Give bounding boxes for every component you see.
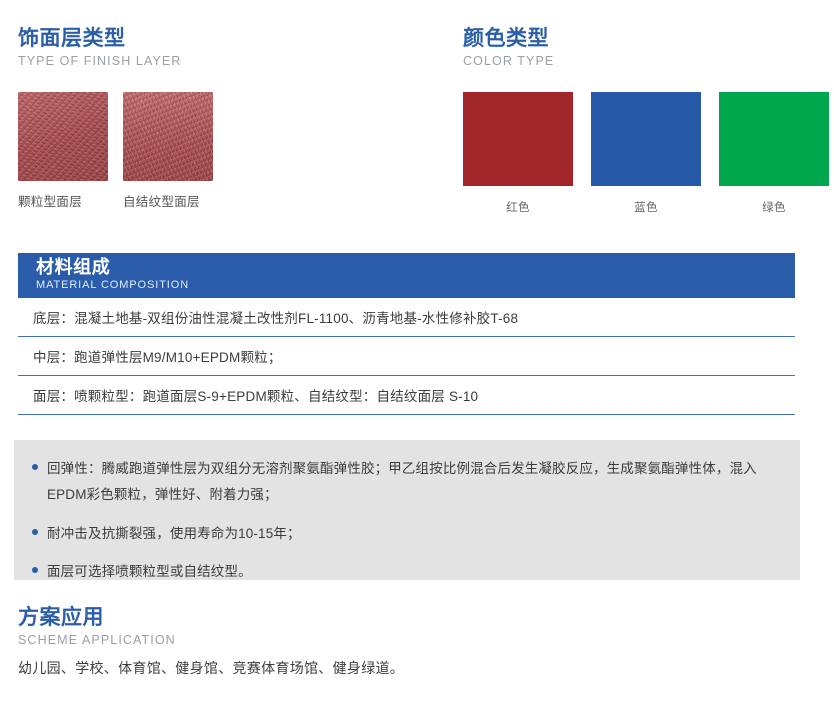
material-composition-row: 中层：跑道弹性层M9/M10+EPDM颗粒； xyxy=(18,337,795,376)
color-swatch-item[interactable]: 蓝色 xyxy=(591,92,701,215)
green-color-swatch xyxy=(719,92,829,186)
finish-layer-item[interactable]: 颗粒型面层 xyxy=(18,92,108,210)
color-type-section: 颜色类型 COLOR TYPE 红色 蓝色 绿色 xyxy=(463,28,823,215)
finish-layer-caption: 自结纹型面层 xyxy=(123,191,213,210)
material-composition-subtitle: MATERIAL COMPOSITION xyxy=(36,280,795,291)
red-color-swatch xyxy=(463,92,573,186)
feature-text: 回弹性：腾威跑道弹性层为双组分无溶剂聚氨酯弹性胶；甲乙组按比例混合后发生凝胶反应… xyxy=(47,456,778,509)
finish-layer-thumbnail-row: 颗粒型面层 自结纹型面层 xyxy=(18,92,418,210)
material-composition-band: 材料组成 MATERIAL COMPOSITION xyxy=(18,253,795,298)
feature-list-item: 回弹性：腾威跑道弹性层为双组分无溶剂聚氨酯弹性胶；甲乙组按比例混合后发生凝胶反应… xyxy=(32,456,778,509)
feature-text: 面层可选择喷颗粒型或自结纹型。 xyxy=(47,559,252,585)
color-swatch-item[interactable]: 红色 xyxy=(463,92,573,215)
color-swatch-caption: 蓝色 xyxy=(591,199,701,215)
scheme-application-subtitle: SCHEME APPLICATION xyxy=(18,634,778,647)
material-composition-row: 底层：混凝土地基-双组份油性混凝土改性剂FL-1100、沥青地基-水性修补胶T-… xyxy=(18,298,795,337)
finish-layer-subtitle: TYPE OF FINISH LAYER xyxy=(18,55,418,68)
material-composition-title: 材料组成 xyxy=(36,258,795,278)
bullet-icon xyxy=(32,567,38,573)
color-swatch-caption: 红色 xyxy=(463,199,573,215)
finish-layer-title: 饰面层类型 xyxy=(18,28,418,50)
color-swatch-row: 红色 蓝色 绿色 xyxy=(463,92,823,215)
feature-list-item: 耐冲击及抗撕裂强，使用寿命为10-15年； xyxy=(32,521,778,547)
feature-list-box: 回弹性：腾威跑道弹性层为双组分无溶剂聚氨酯弹性胶；甲乙组按比例混合后发生凝胶反应… xyxy=(14,440,800,580)
scheme-application-body: 幼儿园、学校、体育馆、健身馆、竞赛体育场馆、健身绿道。 xyxy=(18,658,778,678)
color-swatch-item[interactable]: 绿色 xyxy=(719,92,829,215)
scheme-application-title: 方案应用 xyxy=(18,607,778,629)
blue-color-swatch xyxy=(591,92,701,186)
feature-text: 耐冲击及抗撕裂强，使用寿命为10-15年； xyxy=(47,521,301,547)
color-swatch-caption: 绿色 xyxy=(719,199,829,215)
material-composition-row: 面层：喷颗粒型：跑道面层S-9+EPDM颗粒、自结纹型：自结纹面层 S-10 xyxy=(18,376,795,415)
color-type-subtitle: COLOR TYPE xyxy=(463,55,823,68)
finish-layer-item[interactable]: 自结纹型面层 xyxy=(123,92,213,210)
scheme-application-section: 方案应用 SCHEME APPLICATION 幼儿园、学校、体育馆、健身馆、竞… xyxy=(18,607,778,678)
granule-texture-image xyxy=(18,92,108,181)
color-type-title: 颜色类型 xyxy=(463,28,823,50)
feature-list-item: 面层可选择喷颗粒型或自结纹型。 xyxy=(32,559,778,585)
bullet-icon xyxy=(32,464,38,470)
finish-layer-caption: 颗粒型面层 xyxy=(18,191,108,210)
self-knot-texture-image xyxy=(123,92,213,181)
material-composition-list: 底层：混凝土地基-双组份油性混凝土改性剂FL-1100、沥青地基-水性修补胶T-… xyxy=(18,298,795,415)
finish-layer-section: 饰面层类型 TYPE OF FINISH LAYER 颗粒型面层 自结纹型面层 xyxy=(18,28,418,210)
bullet-icon xyxy=(32,529,38,535)
